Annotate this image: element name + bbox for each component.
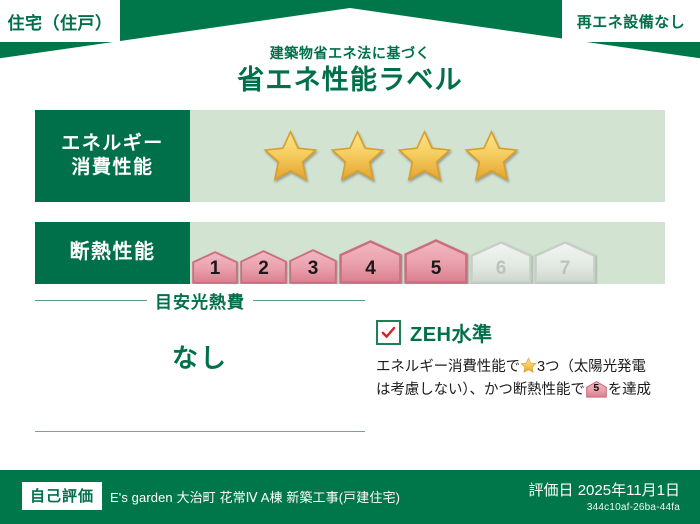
house-number: 1 [210,258,221,284]
star-icon [329,128,386,185]
checkmark-icon [376,320,401,345]
house-number: 5 [431,258,442,284]
energy-star-rating [190,110,665,202]
energy-performance-label: エネルギー 消費性能 [35,110,190,202]
row-energy-performance: エネルギー 消費性能 [35,110,665,202]
inline-star-icon [520,357,537,374]
footer-right-group: 評価日 2025年11月1日 344c10af-26ba-44fa [529,479,680,513]
project-name: E's garden 大治町 花常Ⅳ A棟 新築工事(戸建住宅) [110,487,400,506]
heading-rule-left [35,300,147,301]
evaluation-date: 評価日 2025年11月1日 [529,479,680,500]
tag-building-type: 住宅（住戸） [0,0,120,42]
tag-renewable-energy-text: 再エネ設備なし [577,11,686,32]
estimated-utility-cost-value: なし [35,338,365,375]
house-number: 2 [258,258,269,284]
self-evaluation-badge: 自己評価 [22,482,102,510]
estimated-utility-cost-title: 目安光熱費 [155,288,245,313]
house-number: 4 [365,258,376,284]
energy-label-line2: 消費性能 [71,156,153,180]
zeh-standard-description: エネルギー消費性能で3つ（太陽光発電 は考慮しない）、かつ断熱性能で5を達成 [376,356,666,403]
zeh-desc-part2: は考慮しない）、かつ断熱性能で [376,382,585,398]
inline-house-number: 5 [586,381,607,398]
estimated-utility-cost-heading: 目安光熱費 [35,288,365,313]
footer-left-group: 自己評価 E's garden 大治町 花常Ⅳ A棟 新築工事(戸建住宅) [22,482,400,510]
estimated-utility-cost-underline [35,431,365,432]
title-main: 省エネ性能ラベル [0,64,700,98]
star-icon [463,128,520,185]
insulation-level-3: 3 [289,249,337,284]
insulation-rating-scale: 1234567 [190,222,665,284]
insulation-level-5: 5 [404,239,468,284]
label-footer: 自己評価 E's garden 大治町 花常Ⅳ A棟 新築工事(戸建住宅) 評価… [0,470,700,524]
label-title: 建築物省エネ法に基づく 省エネ性能ラベル [0,44,700,98]
zeh-desc-part3: を達成 [608,382,651,398]
energy-performance-label: 住宅（住戸） 再エネ設備なし 建築物省エネ法に基づく 省エネ性能ラベル エネルギ… [0,0,700,524]
insulation-level-1: 1 [192,251,238,284]
star-icon [262,128,319,185]
insulation-performance-label: 断熱性能 [35,222,190,284]
evaluation-id: 344c10af-26ba-44fa [529,502,680,513]
tag-building-type-text: 住宅（住戸） [8,9,113,34]
inline-insulation-house-icon: 5 [586,381,607,398]
house-number: 6 [496,258,507,284]
zeh-desc-star-count: 3つ（太陽光発電 [537,359,646,375]
insulation-label-text: 断熱性能 [70,240,156,266]
house-number: 3 [308,258,319,284]
insulation-level-7: 7 [534,241,596,284]
row-insulation-performance: 断熱性能 1234567 [35,222,665,284]
energy-label-line1: エネルギー [61,132,164,156]
star-icon [396,128,453,185]
tag-renewable-energy: 再エネ設備なし [562,0,700,42]
zeh-standard-block: ZEH水準 エネルギー消費性能で3つ（太陽光発電 は考慮しない）、かつ断熱性能で… [376,318,666,403]
title-subtitle: 建築物省エネ法に基づく [0,44,700,62]
insulation-level-6: 6 [470,241,532,284]
zeh-heading: ZEH水準 [376,318,666,347]
zeh-desc-part1: エネルギー消費性能で [376,359,520,375]
zeh-standard-title: ZEH水準 [410,318,493,347]
insulation-level-track: 1234567 [190,222,598,284]
heading-rule-right [253,300,365,301]
insulation-level-2: 2 [240,250,287,284]
house-number: 7 [560,258,571,284]
insulation-level-4: 4 [339,240,402,284]
